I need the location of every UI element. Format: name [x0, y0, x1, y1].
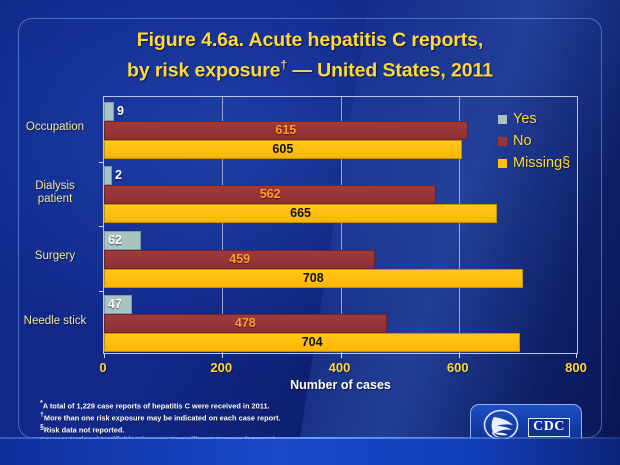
x-axis-tick: [222, 353, 223, 358]
x-axis-tick-label: 200: [191, 360, 251, 375]
bar-value-label-surgery-no: 459: [104, 250, 375, 269]
y-axis-category-label: Dialysispatient: [12, 180, 98, 206]
footnote-1-text: A total of 1,229 case reports of hepatit…: [43, 401, 270, 410]
footnote-2-text: More than one risk exposure may be indic…: [44, 413, 281, 422]
chart-legend: YesNoMissing§: [498, 108, 570, 174]
x-axis-tick: [341, 353, 342, 358]
legend-swatch-icon: [498, 115, 507, 124]
bar-value-label-occupation-missing: 605: [104, 140, 462, 159]
y-axis-group-tick: [99, 291, 104, 292]
bar-value-label-occupation-yes: 9: [117, 102, 124, 121]
y-axis-group-tick: [99, 162, 104, 163]
slide-canvas: Figure 4.6a. Acute hepatitis C reports, …: [0, 0, 620, 465]
footnote-3-text: Risk data not reported.: [44, 425, 125, 434]
bar-value-label-dialysis-yes: 2: [115, 166, 122, 185]
x-axis-tick-label: 800: [546, 360, 606, 375]
legend-item-missing[interactable]: Missing§: [498, 152, 570, 174]
bar-value-label-dialysis-missing: 665: [104, 204, 497, 223]
bar-value-label-occupation-no: 615: [104, 121, 468, 140]
title-line-2-text-b: — United States, 2011: [287, 60, 493, 82]
title-line-1: Figure 4.6a. Acute hepatitis C reports,: [137, 29, 483, 51]
y-axis-category-label: Occupation: [12, 121, 98, 134]
bar-value-label-surgery-yes: 62: [108, 231, 122, 250]
legend-item-no[interactable]: No: [498, 130, 570, 152]
x-axis-tick-label: 0: [73, 360, 133, 375]
x-axis-tick: [459, 353, 460, 358]
bar-occupation-yes: [104, 102, 114, 121]
x-axis-title: Number of cases: [103, 378, 578, 392]
category-label-line-2: patient: [12, 193, 98, 206]
y-axis-group-tick: [99, 226, 104, 227]
y-axis-category-label: Surgery: [12, 250, 98, 263]
bar-value-label-needle_stick-missing: 704: [104, 333, 520, 352]
cdc-wordmark: CDC: [528, 418, 570, 437]
bottom-band: [0, 439, 620, 465]
footnote-line-3: §Risk data not reported.: [40, 423, 280, 435]
legend-label: No: [513, 133, 532, 149]
x-axis-tick-label: 400: [310, 360, 370, 375]
footnote-line-1: *A total of 1,229 case reports of hepati…: [40, 399, 280, 411]
title-line-2-text-a: by risk exposure: [127, 60, 280, 82]
footnote-line-2: †More than one risk exposure may be indi…: [40, 411, 280, 423]
legend-label: Missing§: [513, 155, 570, 171]
bar-value-label-dialysis-no: 562: [104, 185, 436, 204]
category-label-line-1: Dialysis: [12, 180, 98, 193]
legend-swatch-icon: [498, 137, 507, 146]
title-line-2: by risk exposure† — United States, 2011: [40, 53, 580, 84]
legend-label: Yes: [513, 111, 537, 127]
bar-value-label-surgery-missing: 708: [104, 269, 523, 288]
y-axis-category-label: Needle stick: [12, 315, 98, 328]
x-axis-tick: [104, 353, 105, 358]
legend-swatch-icon: [498, 159, 507, 168]
x-axis-tick-label: 600: [428, 360, 488, 375]
legend-item-yes[interactable]: Yes: [498, 108, 570, 130]
x-axis-tick: [576, 353, 577, 358]
page-title: Figure 4.6a. Acute hepatitis C reports, …: [40, 28, 580, 84]
bar-dialysis-yes: [104, 166, 112, 185]
bar-value-label-needle_stick-yes: 47: [108, 295, 122, 314]
bar-value-label-needle_stick-no: 478: [104, 314, 387, 333]
